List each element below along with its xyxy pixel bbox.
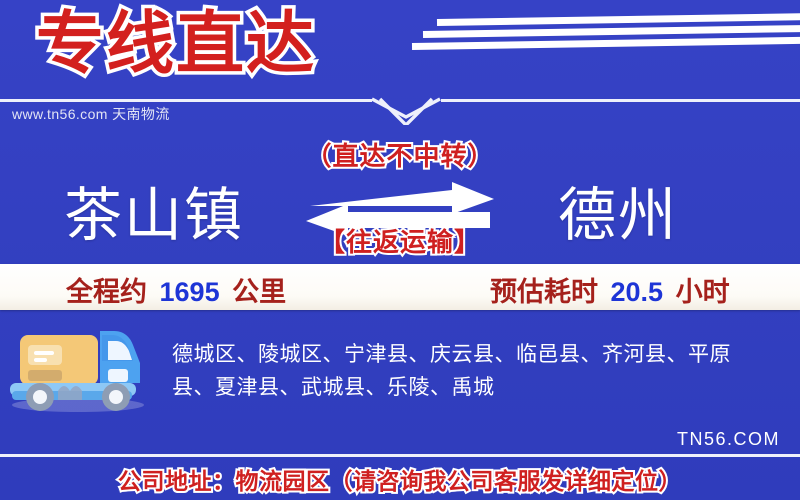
distance-unit: 公里: [232, 277, 286, 307]
decorative-stripe-1: [437, 13, 800, 26]
round-trip-tag: 【往返运输】: [319, 222, 481, 259]
origin-city: 茶山镇: [64, 168, 244, 252]
destination-city: 德州: [558, 168, 678, 252]
divider-line-left: [0, 99, 372, 102]
decorative-stripe-2: [423, 25, 800, 38]
service-districts-list: 德城区、陵城区、宁津县、庆云县、临邑县、齐河县、平原县、夏津县、武城县、乐陵、禹…: [172, 338, 772, 404]
logistics-route-poster: 专线直达 www.tn56.com 天南物流 茶山镇 德州 （直达不中转） 【往…: [0, 0, 800, 500]
duration-unit: 小时: [676, 277, 730, 307]
decorative-stripe-3: [412, 37, 800, 50]
divider-line-right: [441, 99, 800, 102]
footer-divider: [0, 454, 800, 457]
delivery-truck-icon: [4, 313, 154, 418]
distance-label: 全程约: [66, 277, 147, 307]
website-small-label: www.tn56.com 天南物流: [12, 104, 170, 124]
duration-value: 20.5: [606, 277, 669, 307]
trip-info-bar: 全程约 1695 公里 预估耗时 20.5 小时: [0, 264, 800, 310]
brand-watermark: TN56.COM: [677, 429, 780, 450]
duration-group: 预估耗时 20.5 小时: [490, 270, 730, 309]
duration-label: 预估耗时: [490, 277, 598, 307]
company-address-text: 公司地址：物流园区（请咨询我公司客服发详细定位）: [118, 462, 682, 496]
page-title: 专线直达: [36, 2, 316, 87]
distance-value: 1695: [155, 277, 225, 307]
direct-service-tag: （直达不中转）: [305, 136, 494, 173]
distance-group: 全程约 1695 公里: [66, 270, 286, 309]
chevron-down-icon: [368, 97, 444, 123]
